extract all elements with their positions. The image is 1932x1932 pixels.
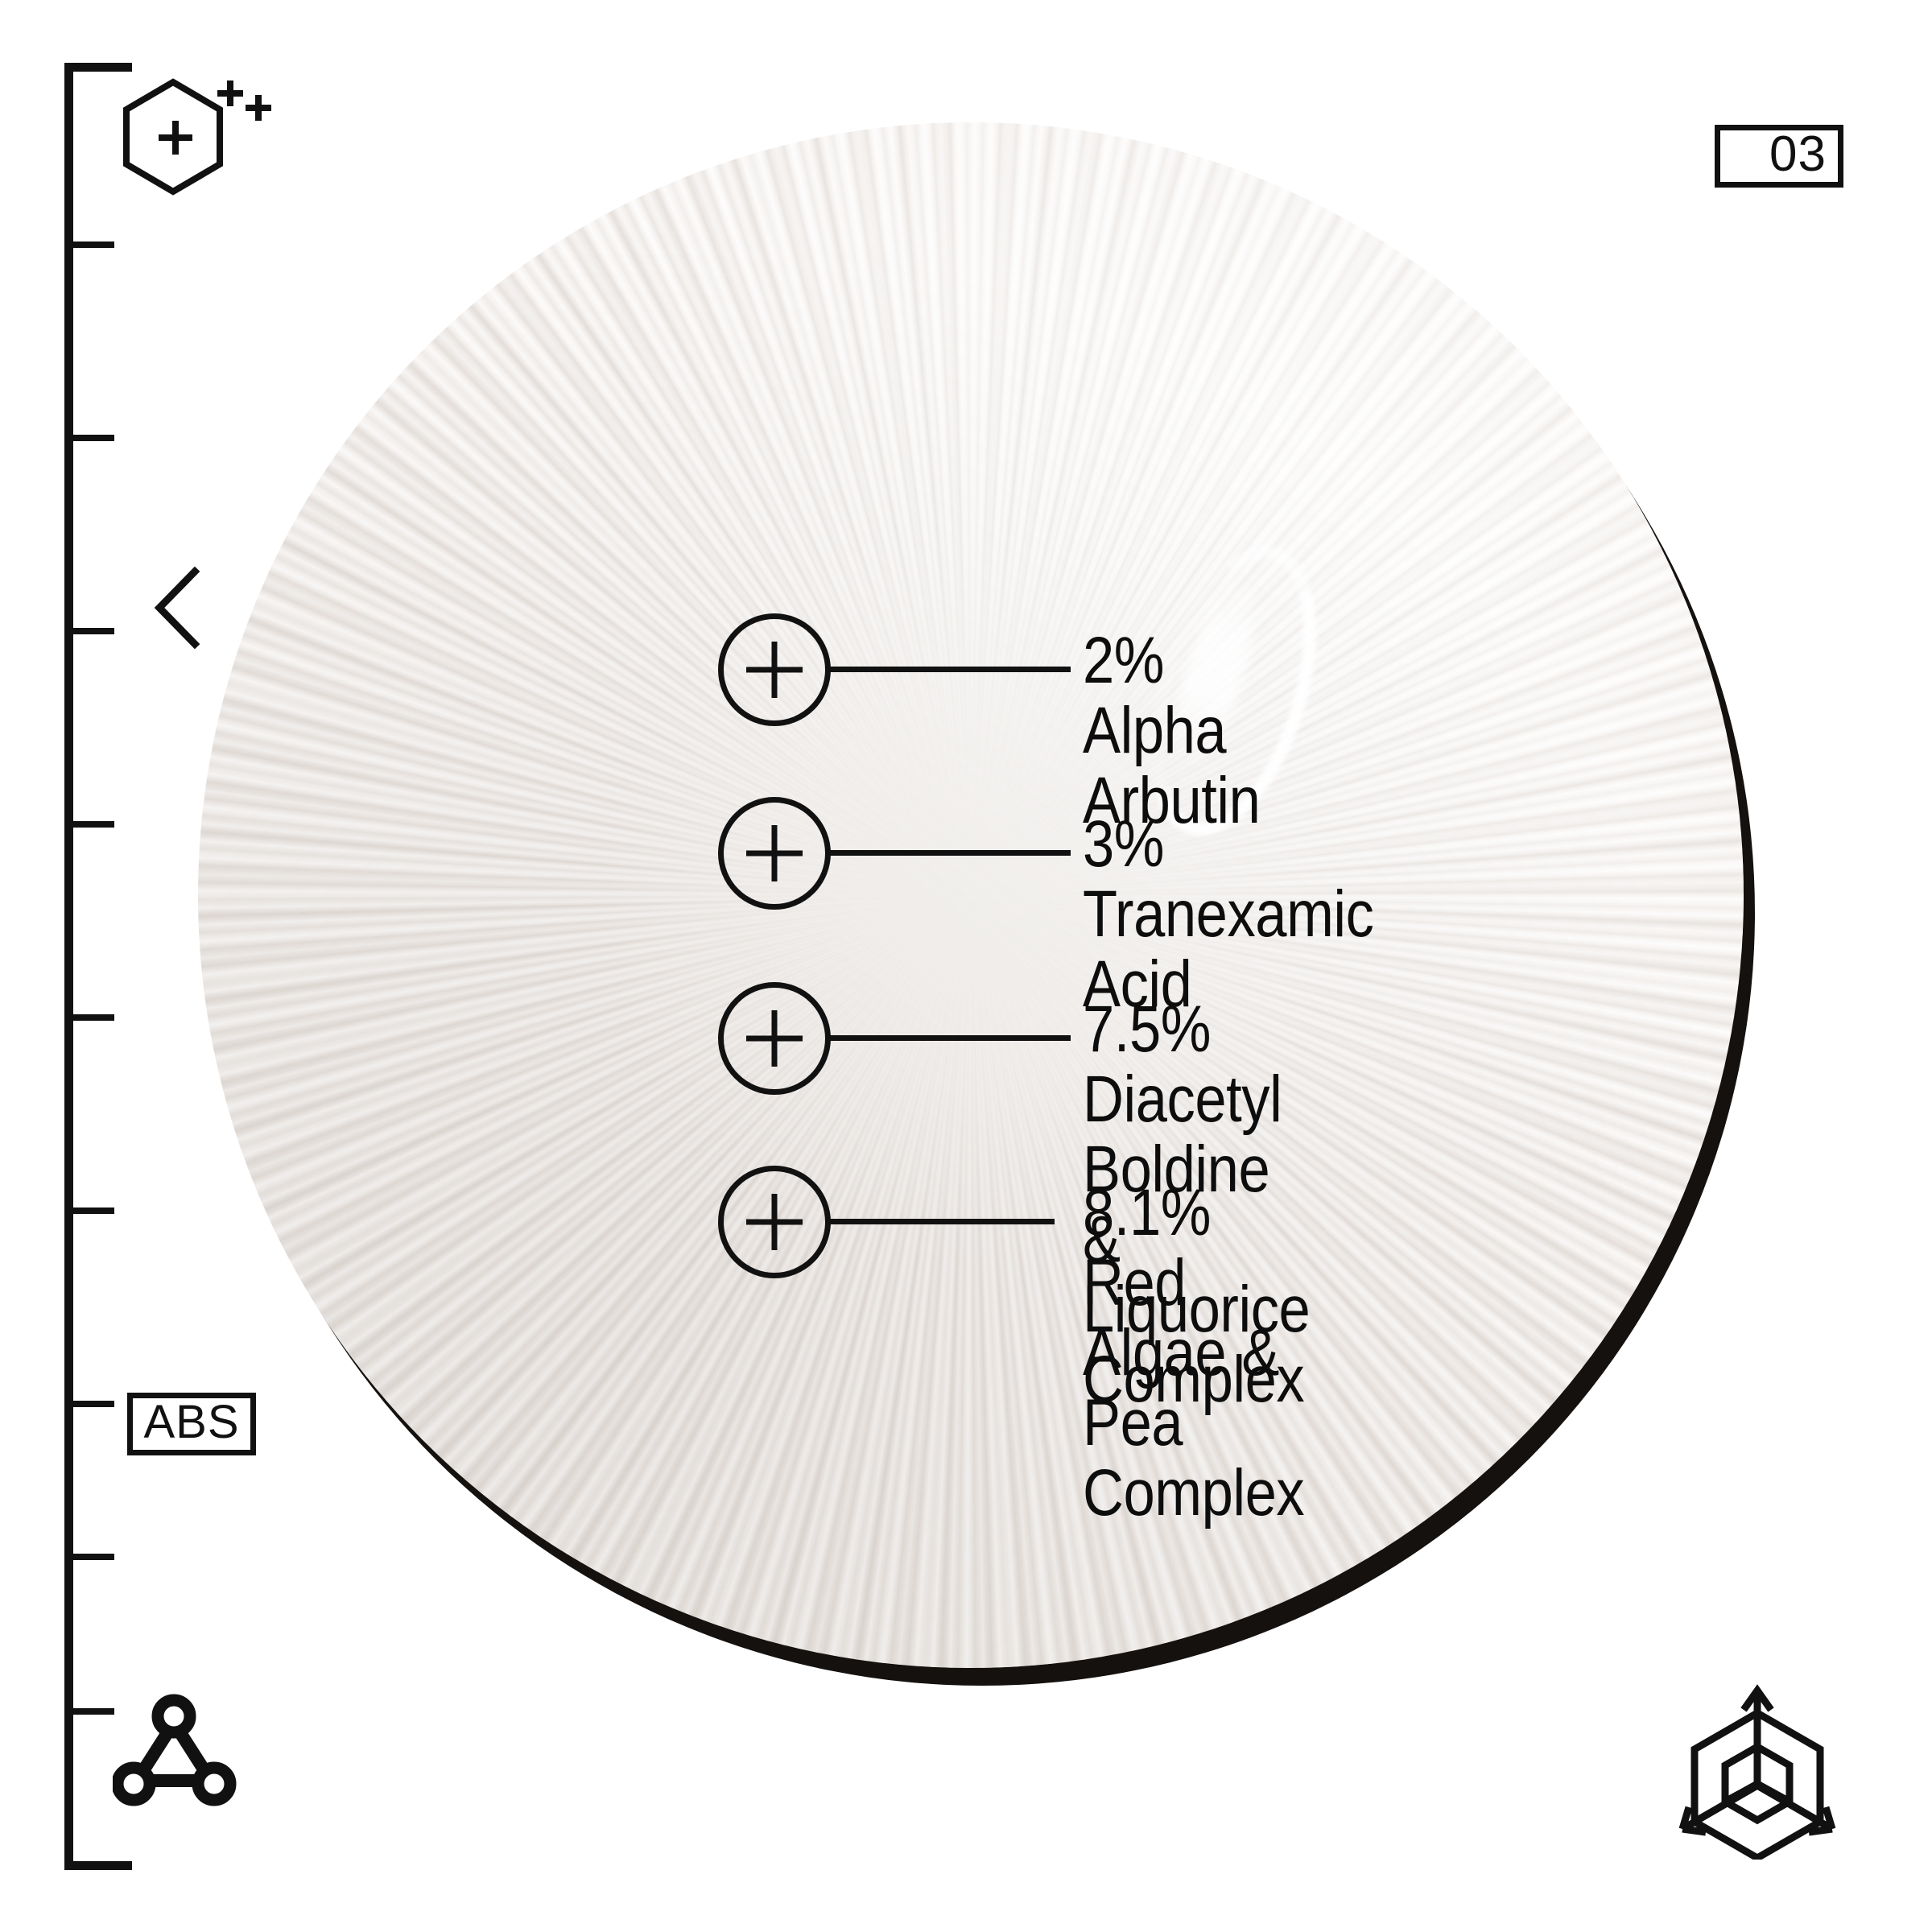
leader-line: [829, 1219, 1055, 1224]
plus-circle-icon[interactable]: [718, 797, 831, 910]
leader-line: [829, 850, 1071, 856]
jar-lid-surface: [198, 122, 1744, 1668]
frame-tick: [64, 1014, 114, 1021]
product-ingredient-callout-canvas: 03 ABS: [0, 0, 1932, 1932]
frame-tick: [64, 1401, 114, 1407]
frame-bottom-arm: [64, 1861, 132, 1870]
frame-tick: [64, 821, 114, 828]
isometric-cube-icon: [1673, 1682, 1850, 1860]
frame-tick: [64, 1207, 114, 1214]
molecule-triangle-icon: [113, 1690, 258, 1835]
callout-label: 3% Tranexamic Acid: [1083, 810, 1373, 1020]
frame-tick: [64, 1554, 114, 1560]
plus-circle-icon[interactable]: [718, 613, 831, 726]
callout-label: 2% Alpha Arbutin: [1083, 626, 1260, 836]
leader-line: [829, 1035, 1071, 1041]
plus-circle-icon[interactable]: [718, 1166, 831, 1278]
product-jar: [198, 122, 1744, 1668]
plus-circle-icon[interactable]: [718, 982, 831, 1095]
frame-tick: [64, 242, 114, 248]
frame-tick: [64, 1708, 114, 1715]
frame-vertical-rule: [64, 63, 73, 1870]
callout-label: 8.1% Red Algae & Pea Complex: [1083, 1179, 1304, 1529]
frame-tick: [64, 628, 114, 634]
sequence-badge-label: 03: [1769, 130, 1838, 183]
frame-tick: [64, 435, 114, 441]
jar-shading: [198, 122, 1744, 1668]
leader-line: [829, 667, 1071, 672]
